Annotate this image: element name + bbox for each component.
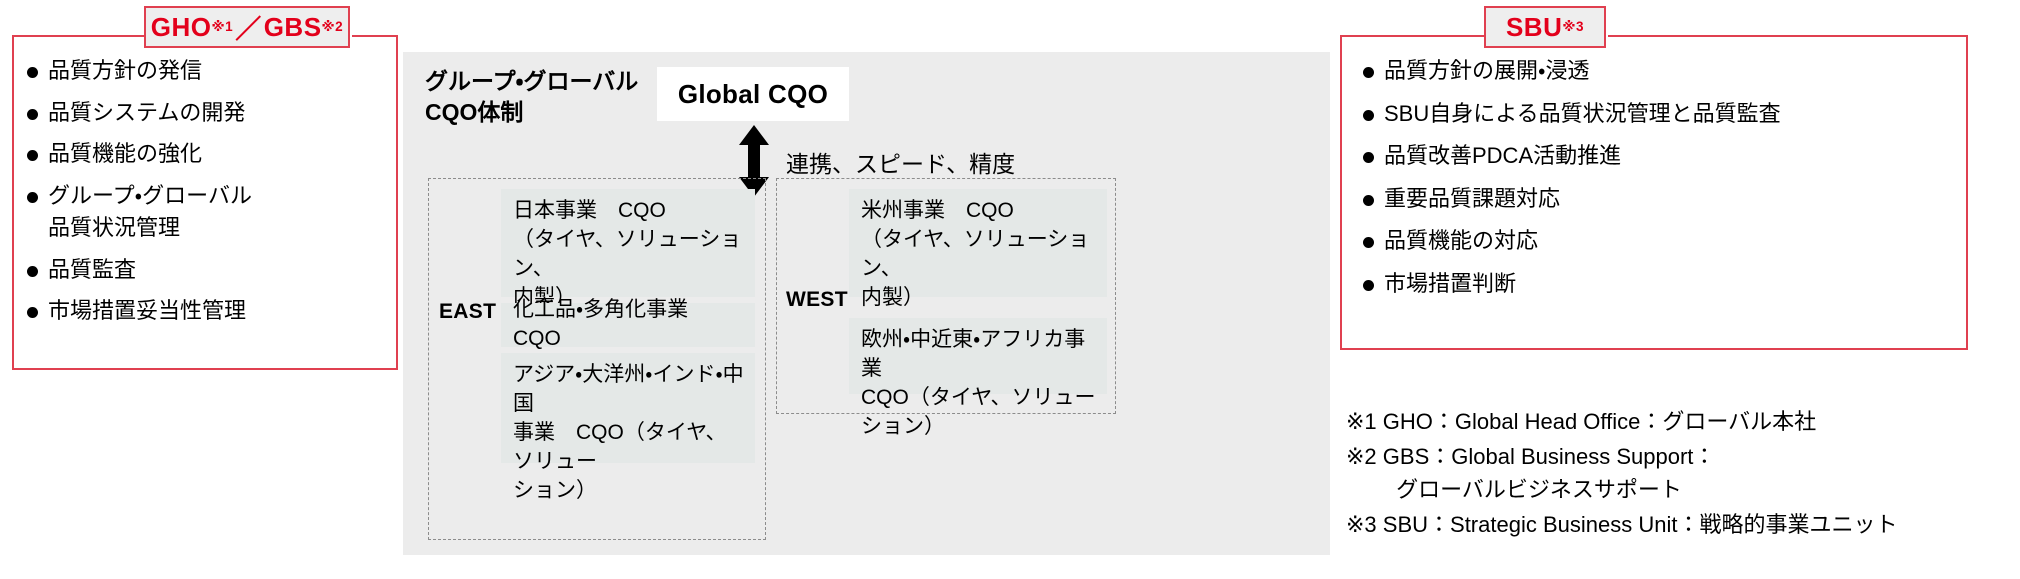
footnote-1: ※1 GHO：Global Head Office：グローバル本社 bbox=[1346, 405, 2006, 438]
east-cqo-card: 日本事業 CQO （タイヤ、ソリューション、 内製） bbox=[501, 189, 755, 297]
diagram-canvas: GHO※1／GBS※2 品質方針の発信 品質システムの開発 品質機能の強化 グル… bbox=[0, 0, 2020, 579]
footnote-2: ※2 GBS：Global Business Support： グローバルビジネ… bbox=[1346, 440, 2006, 506]
west-cqo-card: 欧州・中近東・アフリカ事業 CQO（タイヤ、ソリューション） bbox=[849, 318, 1107, 394]
list-item: 品質機能の対応 bbox=[1362, 225, 1962, 258]
gho-bullet-list: 品質方針の発信 品質システムの開発 品質機能の強化 グループ・グローバル 品質状… bbox=[26, 55, 386, 337]
global-cqo-box: Global CQO bbox=[657, 67, 849, 121]
west-cqo-card: 米州事業 CQO （タイヤ、ソリューション、 内製） bbox=[849, 189, 1107, 297]
global-cqo-label: Global CQO bbox=[678, 79, 828, 110]
sbu-bullet-list: 品質方針の展開・浸透 SBU自身による品質状況管理と品質監査 品質改善PDCA活… bbox=[1362, 55, 1962, 310]
east-region-label: EAST bbox=[439, 300, 496, 324]
list-item: 品質方針の展開・浸透 bbox=[1362, 55, 1962, 88]
footnotes-block: ※1 GHO：Global Head Office：グローバル本社 ※2 GBS… bbox=[1346, 405, 2006, 543]
list-item: SBU自身による品質状況管理と品質監査 bbox=[1362, 98, 1962, 131]
west-region-label: WEST bbox=[786, 288, 848, 312]
list-item: グループ・グローバル 品質状況管理 bbox=[26, 180, 386, 245]
list-item: 品質システムの開発 bbox=[26, 97, 386, 130]
sbu-tab: SBU※3 bbox=[1484, 6, 1606, 48]
sbu-tab-label: SBU bbox=[1506, 12, 1562, 43]
gho-tab-gho-label: GHO bbox=[151, 12, 212, 43]
gho-tab-gbs-label: GBS bbox=[264, 12, 322, 43]
list-item: 重要品質課題対応 bbox=[1362, 183, 1962, 216]
list-item: 品質方針の発信 bbox=[26, 55, 386, 88]
east-cqo-card: 化工品・多角化事業 CQO bbox=[501, 303, 755, 347]
footnote-3: ※3 SBU：Strategic Business Unit：戦略的事業ユニット bbox=[1346, 508, 2006, 541]
list-item: 品質機能の強化 bbox=[26, 138, 386, 171]
center-panel-title: グループ・グローバル CQO体制 bbox=[425, 66, 638, 128]
arrow-label: 連携、スピード、精度 bbox=[786, 145, 1015, 179]
east-cqo-card: アジア・大洋州・インド・中国 事業 CQO（タイヤ、ソリュー ション） bbox=[501, 353, 755, 463]
list-item: 品質監査 bbox=[26, 254, 386, 287]
list-item: 市場措置妥当性管理 bbox=[26, 295, 386, 328]
list-item: 市場措置判断 bbox=[1362, 268, 1962, 301]
global-cqo-structure-panel: グループ・グローバル CQO体制 Global CQO 連携、スピード、精度 E… bbox=[403, 52, 1330, 555]
gho-gbs-tab: GHO※1／GBS※2 bbox=[144, 6, 350, 48]
list-item: 品質改善PDCA活動推進 bbox=[1362, 140, 1962, 173]
gho-tab-slash: ／ bbox=[233, 9, 264, 46]
